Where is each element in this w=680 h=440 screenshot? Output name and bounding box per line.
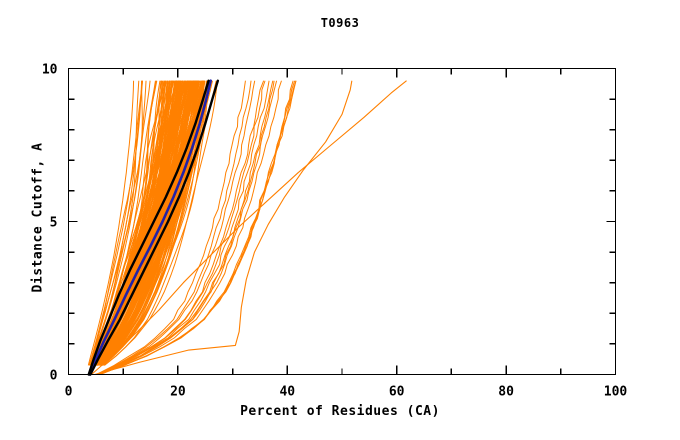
- ensemble-lines-group: [88, 81, 406, 375]
- x-tick-label: 40: [279, 385, 295, 400]
- y-tick-label: 10: [42, 63, 58, 78]
- x-tick-label: 80: [498, 385, 514, 400]
- y-tick-label: 5: [50, 216, 58, 231]
- plot-area: 0204060801000510: [0, 0, 680, 440]
- chart-container: T0963 Distance Cutoff, A Percent of Resi…: [0, 0, 680, 440]
- tick-labels-group: 0204060801000510: [42, 63, 628, 400]
- x-tick-label: 60: [389, 385, 405, 400]
- x-tick-label: 0: [65, 385, 73, 400]
- y-tick-label: 0: [50, 369, 58, 384]
- x-tick-label: 20: [170, 385, 186, 400]
- x-tick-label: 100: [604, 385, 628, 400]
